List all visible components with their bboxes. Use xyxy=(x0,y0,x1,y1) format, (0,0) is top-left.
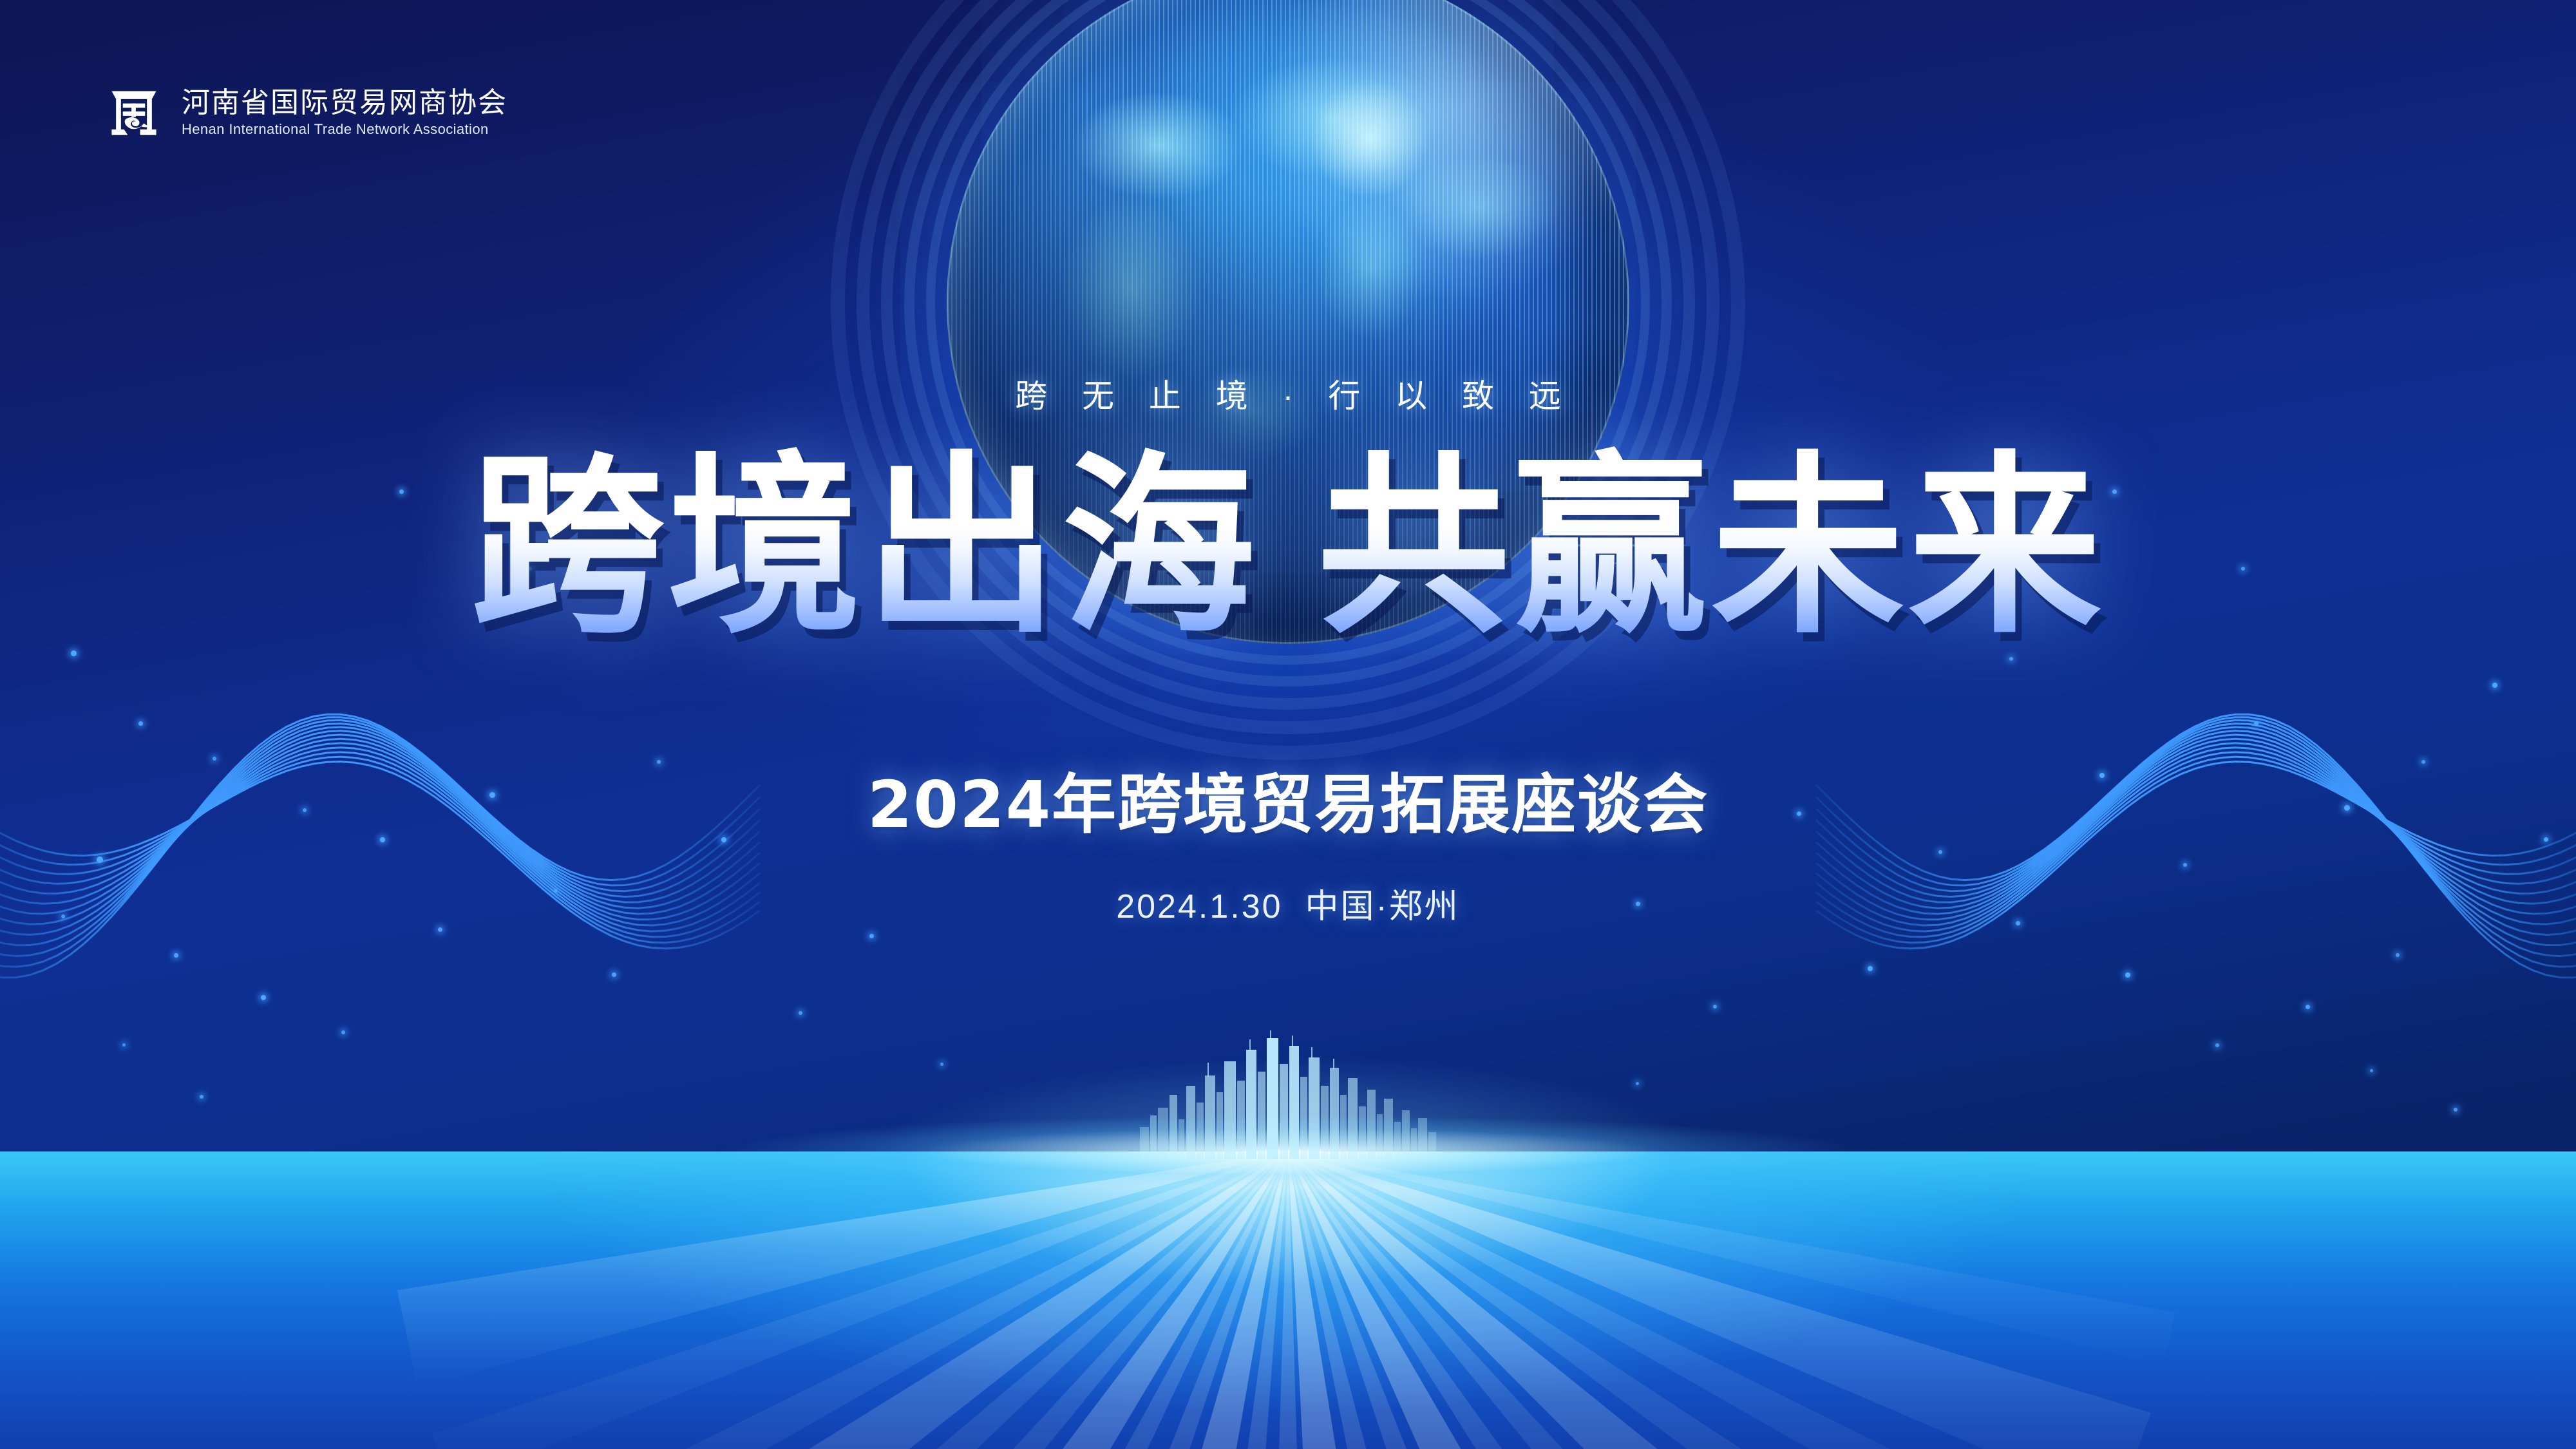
title-part-1: 跨境出海 xyxy=(471,435,1259,659)
event-date: 2024.1.30 xyxy=(1116,888,1282,925)
skyline-building xyxy=(1150,1115,1157,1159)
event-meta: 2024.1.30 中国·郑州 xyxy=(0,879,2576,927)
skyline-building xyxy=(1340,1095,1347,1159)
org-name-cn: 河南省国际贸易网商协会 xyxy=(182,87,507,118)
skyline-building xyxy=(1428,1132,1436,1159)
event-subtitle: 2024年跨境贸易拓展座谈会 xyxy=(0,752,2576,846)
skyline-building xyxy=(1140,1127,1149,1159)
skyline-building xyxy=(1394,1122,1401,1159)
skyline-building xyxy=(1179,1119,1184,1159)
skyline-building xyxy=(1258,1072,1265,1159)
skyline-antenna xyxy=(1249,1039,1251,1051)
logo-text-block: 河南省国际贸易网商协会 Henan International Trade Ne… xyxy=(182,87,507,140)
skyline-building xyxy=(1384,1099,1393,1159)
skyline-building xyxy=(1300,1077,1307,1159)
event-tagline: 跨 无 止 境 · 行 以 致 远 xyxy=(0,370,2576,417)
skyline-building xyxy=(1205,1075,1215,1159)
skyline-antenna xyxy=(1207,1063,1209,1077)
skyline-building xyxy=(1197,1103,1204,1159)
skyline-building xyxy=(1348,1078,1358,1159)
skyline-antenna xyxy=(1333,1059,1334,1069)
seal-logo-icon xyxy=(103,82,165,144)
skyline-building xyxy=(1170,1095,1177,1159)
skyline-building xyxy=(1411,1128,1417,1159)
skyline-antenna xyxy=(1292,1036,1293,1047)
org-name-en: Henan International Trade Network Associ… xyxy=(182,118,507,140)
skyline-building xyxy=(1377,1114,1383,1159)
association-logo[interactable]: 河南省国际贸易网商协会 Henan International Trade Ne… xyxy=(103,82,507,144)
city-skyline-icon xyxy=(1140,1030,1436,1159)
skyline-building xyxy=(1367,1090,1376,1159)
page-title: 跨境出海共赢未来 xyxy=(0,451,2576,644)
skyline-building xyxy=(1359,1106,1366,1159)
title-part-2: 共赢未来 xyxy=(1317,435,2105,659)
skyline-building xyxy=(1224,1061,1236,1159)
skyline-building xyxy=(1217,1092,1223,1159)
skyline-building xyxy=(1321,1086,1329,1159)
event-location: 中国·郑州 xyxy=(1305,888,1459,925)
skyline-building xyxy=(1418,1118,1427,1159)
skyline-antenna xyxy=(1311,1047,1312,1059)
skyline-building xyxy=(1246,1050,1256,1159)
skyline-building xyxy=(1280,1064,1288,1159)
skyline-building xyxy=(1158,1108,1168,1159)
skyline-building xyxy=(1330,1068,1339,1159)
poster-canvas: 河南省国际贸易网商协会 Henan International Trade Ne… xyxy=(0,0,2576,1449)
skyline-building xyxy=(1309,1057,1320,1159)
skyline-antenna xyxy=(1270,1030,1271,1039)
skyline-building xyxy=(1402,1110,1410,1159)
skyline-building xyxy=(1237,1081,1245,1159)
skyline-building xyxy=(1186,1086,1195,1159)
skyline-building xyxy=(1289,1046,1299,1159)
skyline-building xyxy=(1267,1038,1278,1159)
